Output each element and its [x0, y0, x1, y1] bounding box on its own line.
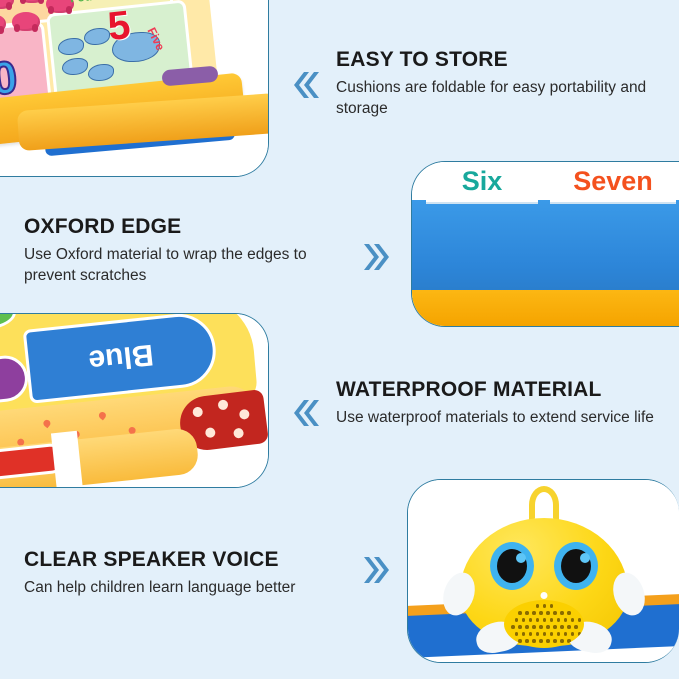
- speaker-grille-hole: [539, 625, 543, 629]
- mushroom-spot: [233, 428, 244, 439]
- speaker-grille-hole: [539, 639, 543, 643]
- speaker-grille-hole: [553, 611, 557, 615]
- speaker-grille-hole: [567, 625, 571, 629]
- speaker-grille-hole: [532, 611, 536, 615]
- feature-image-waterproof-material: Blue: [0, 313, 269, 488]
- speaker-grille-hole: [553, 625, 557, 629]
- crab-icon: [0, 0, 14, 9]
- eye-glint-icon: [580, 553, 590, 563]
- chevron-double-right-icon: [358, 240, 390, 274]
- speaker-grille-hole: [564, 632, 568, 636]
- speaker-grille-hole: [518, 611, 522, 615]
- speaker-grille-hole: [546, 639, 550, 643]
- speaker-grille-hole: [522, 618, 526, 622]
- speaker-grille-hole: [571, 632, 575, 636]
- speaker-grille-hole: [560, 625, 564, 629]
- feature-block-oxford-edge: OXFORD EDGE Use Oxford material to wrap …: [24, 215, 344, 286]
- speaker-grille-hole: [532, 639, 536, 643]
- speaker-grille-hole: [557, 632, 561, 636]
- heart-dot-icon: [97, 411, 107, 421]
- infographic-canvas: Four 5 Five 10 EASY TO STORE Cushions ar…: [0, 0, 679, 679]
- cloth-book-illustration: Four 5 Five 10: [0, 0, 268, 176]
- speaker-grille-hole: [525, 625, 529, 629]
- speaker-grille-hole: [525, 639, 529, 643]
- speaker-grille-hole: [560, 611, 564, 615]
- speaker-grille-hole: [536, 604, 540, 608]
- speaker-eye-left: [490, 542, 534, 590]
- feature-desc-easy-to-store: Cushions are foldable for easy portabili…: [336, 78, 656, 119]
- mushroom-spot: [192, 406, 203, 417]
- speaker-grille-hole: [578, 618, 582, 622]
- mushroom-spot: [239, 409, 250, 420]
- speaker-grille-hole: [553, 639, 557, 643]
- feature-desc-clear-speaker-voice: Can help children learn language better: [24, 578, 295, 599]
- feature-image-easy-to-store: Four 5 Five 10: [0, 0, 269, 177]
- speaker-grille-hole: [578, 632, 582, 636]
- crab-icon: [18, 0, 46, 3]
- speaker-grille-hole: [536, 632, 540, 636]
- speaker-grille-hole: [557, 618, 561, 622]
- speaker-grille-hole: [525, 611, 529, 615]
- oxford-edge-illustration: Six Seven: [412, 162, 679, 326]
- word-card-six-label: Six: [462, 166, 503, 197]
- speaker-grille-hole: [543, 618, 547, 622]
- speaker-grille-hole: [529, 618, 533, 622]
- speaker-grille-hole: [518, 625, 522, 629]
- oxford-edge-binding: [412, 290, 679, 326]
- speaker-grille-hole: [515, 632, 519, 636]
- crab-icon: [12, 12, 40, 31]
- feature-block-easy-to-store: EASY TO STORE Cushions are foldable for …: [336, 48, 656, 119]
- word-card-seven: Seven: [550, 162, 676, 204]
- speaker-grille-hole: [543, 632, 547, 636]
- speaker-grille-hole: [518, 639, 522, 643]
- speaker-grille-hole: [532, 625, 536, 629]
- chevron-double-right-icon: [358, 553, 390, 587]
- speaker-grille-hole: [567, 611, 571, 615]
- feature-desc-oxford-edge: Use Oxford material to wrap the edges to…: [24, 245, 344, 286]
- speaker-grille-hole: [574, 625, 578, 629]
- speaker-grille-hole: [515, 618, 519, 622]
- word-card-six: Six: [426, 162, 538, 204]
- speaker-eye-right: [554, 542, 598, 590]
- page-blue-fabric: [412, 200, 679, 292]
- speaker-illustration: [408, 480, 679, 662]
- feature-desc-waterproof-material: Use waterproof materials to extend servi…: [336, 408, 654, 429]
- word-card-seven-label: Seven: [573, 166, 653, 197]
- speaker-grille-hole: [550, 632, 554, 636]
- mushroom-spot: [205, 427, 216, 438]
- speaker-grille-hole: [560, 639, 564, 643]
- feature-title-waterproof-material: WATERPROOF MATERIAL: [336, 378, 654, 401]
- speaker-grille-hole: [511, 625, 515, 629]
- speaker-grille-hole: [567, 639, 571, 643]
- speaker-grille-hole: [571, 618, 575, 622]
- feature-image-clear-speaker-voice: [407, 479, 679, 663]
- speaker-grille-hole: [543, 604, 547, 608]
- chevron-double-left-icon: [288, 68, 320, 102]
- speaker-grille-hole: [539, 611, 543, 615]
- heart-dot-icon: [42, 418, 52, 428]
- book-numeral-five: 5: [106, 3, 133, 50]
- feature-block-clear-speaker-voice: CLEAR SPEAKER VOICE Can help children le…: [24, 548, 295, 599]
- speaker-nose-dot: [540, 592, 547, 599]
- feature-title-easy-to-store: EASY TO STORE: [336, 48, 656, 71]
- mushroom-spot: [217, 399, 228, 410]
- speaker-grille-hole: [550, 618, 554, 622]
- eye-glint-icon: [516, 553, 526, 563]
- feature-image-oxford-edge: Six Seven: [411, 161, 679, 327]
- speaker-grille-hole: [546, 611, 550, 615]
- feature-title-clear-speaker-voice: CLEAR SPEAKER VOICE: [24, 548, 295, 571]
- feature-title-oxford-edge: OXFORD EDGE: [24, 215, 344, 238]
- crayon-blue-label: Blue: [87, 337, 155, 378]
- feature-block-waterproof-material: WATERPROOF MATERIAL Use waterproof mater…: [336, 378, 654, 429]
- speaker-grille-hole: [536, 618, 540, 622]
- speaker-grille-hole: [564, 618, 568, 622]
- rolled-cloth-illustration: Blue: [0, 314, 268, 487]
- speaker-grille-hole: [522, 632, 526, 636]
- speaker-grille: [504, 600, 584, 648]
- speaker-grille-hole: [550, 604, 554, 608]
- speaker-body: [460, 518, 628, 646]
- chevron-double-left-icon: [288, 396, 320, 430]
- speaker-grille-hole: [546, 625, 550, 629]
- speaker-grille-hole: [529, 632, 533, 636]
